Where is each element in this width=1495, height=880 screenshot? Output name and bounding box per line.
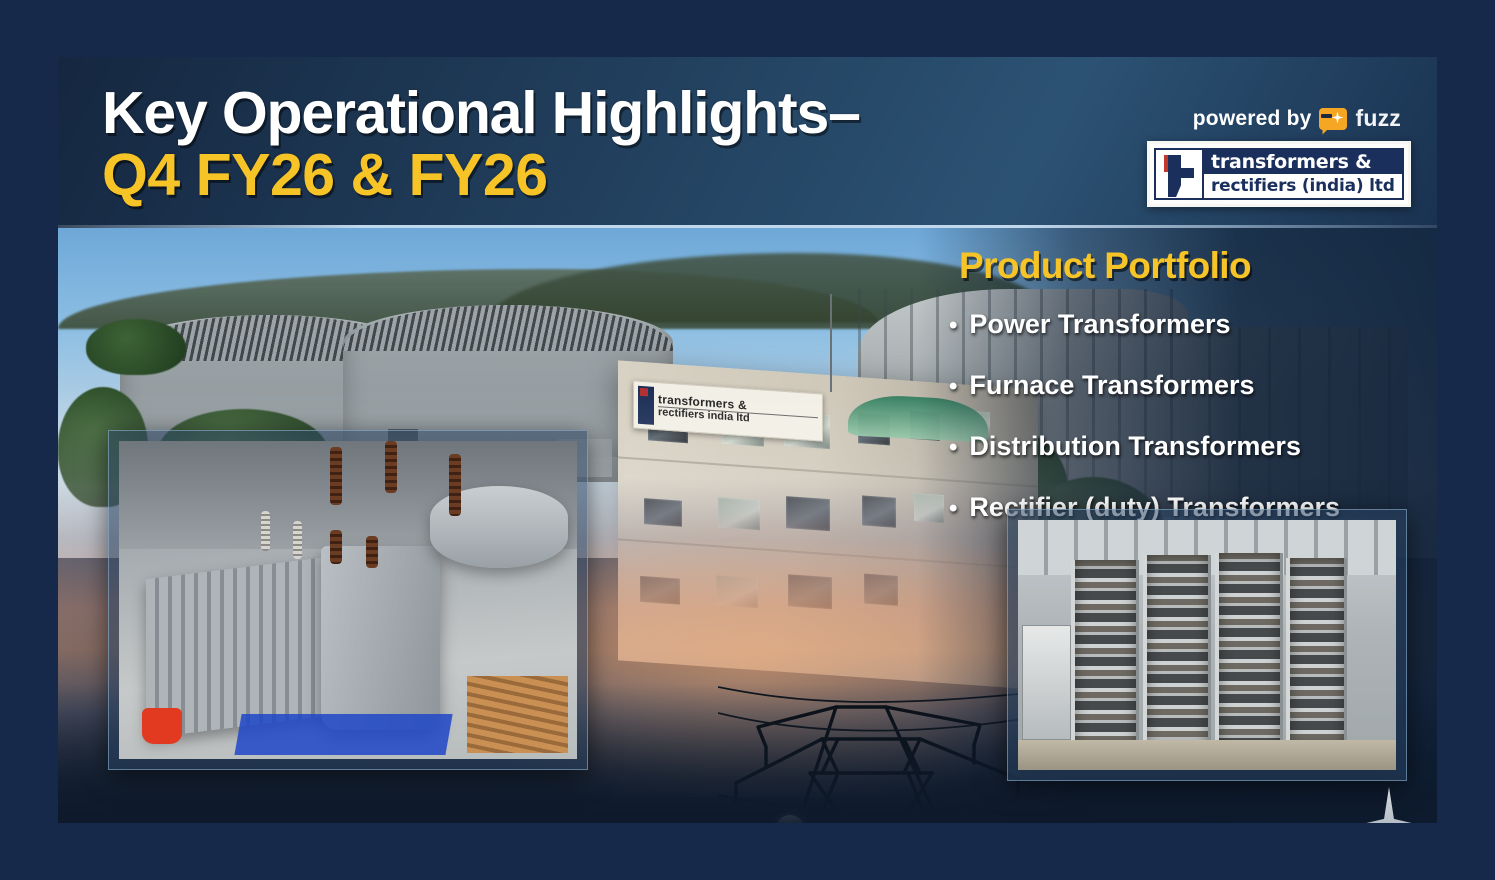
page-title: Key Operational Highlights– Q4 FY26 & FY…: [102, 83, 1152, 207]
logo-line-2: rectifiers (india) ltd: [1204, 174, 1402, 198]
page-background: transformers & rectifiers india ltd: [0, 0, 1495, 880]
list-item-label: Power Transformers: [969, 309, 1230, 340]
list-item: • Power Transformers: [949, 309, 1419, 340]
bullet-icon: •: [949, 497, 957, 521]
tr-monogram-icon: [1156, 150, 1204, 198]
bullet-icon: •: [949, 436, 957, 460]
company-logo: transformers & rectifiers (india) ltd: [1147, 141, 1411, 207]
list-item-label: Furnace Transformers: [969, 370, 1254, 401]
list-item: • Furnace Transformers: [949, 370, 1419, 401]
title-line-1: Key Operational Highlights–: [102, 83, 1152, 143]
list-item-label: Distribution Transformers: [969, 431, 1301, 462]
powered-by-label: powered by: [1193, 107, 1312, 131]
product-portfolio-panel: Product Portfolio • Power Transformers •…: [949, 245, 1419, 553]
antenna-mast: [830, 294, 832, 392]
bullet-icon: •: [949, 314, 957, 338]
fuzz-wordmark: fuzz: [1355, 105, 1401, 132]
transformer-image: [119, 441, 577, 759]
portfolio-list: • Power Transformers • Furnace Transform…: [949, 309, 1419, 523]
portfolio-heading: Product Portfolio: [949, 245, 1419, 287]
tree-cluster: [86, 319, 186, 375]
powered-by-badge: powered by fuzz: [1193, 105, 1401, 132]
bullet-icon: •: [949, 375, 957, 399]
fuzz-logo-icon: [1319, 108, 1347, 130]
rectifier-image: [1018, 520, 1396, 770]
slide-card: transformers & rectifiers india ltd: [58, 57, 1437, 823]
logo-line-1: transformers &: [1204, 150, 1402, 174]
list-item: • Distribution Transformers: [949, 431, 1419, 462]
inset-rectifier-hall-photo: [1007, 509, 1407, 781]
title-line-2: Q4 FY26 & FY26: [102, 145, 1152, 207]
inset-power-transformer-photo: [108, 430, 588, 770]
